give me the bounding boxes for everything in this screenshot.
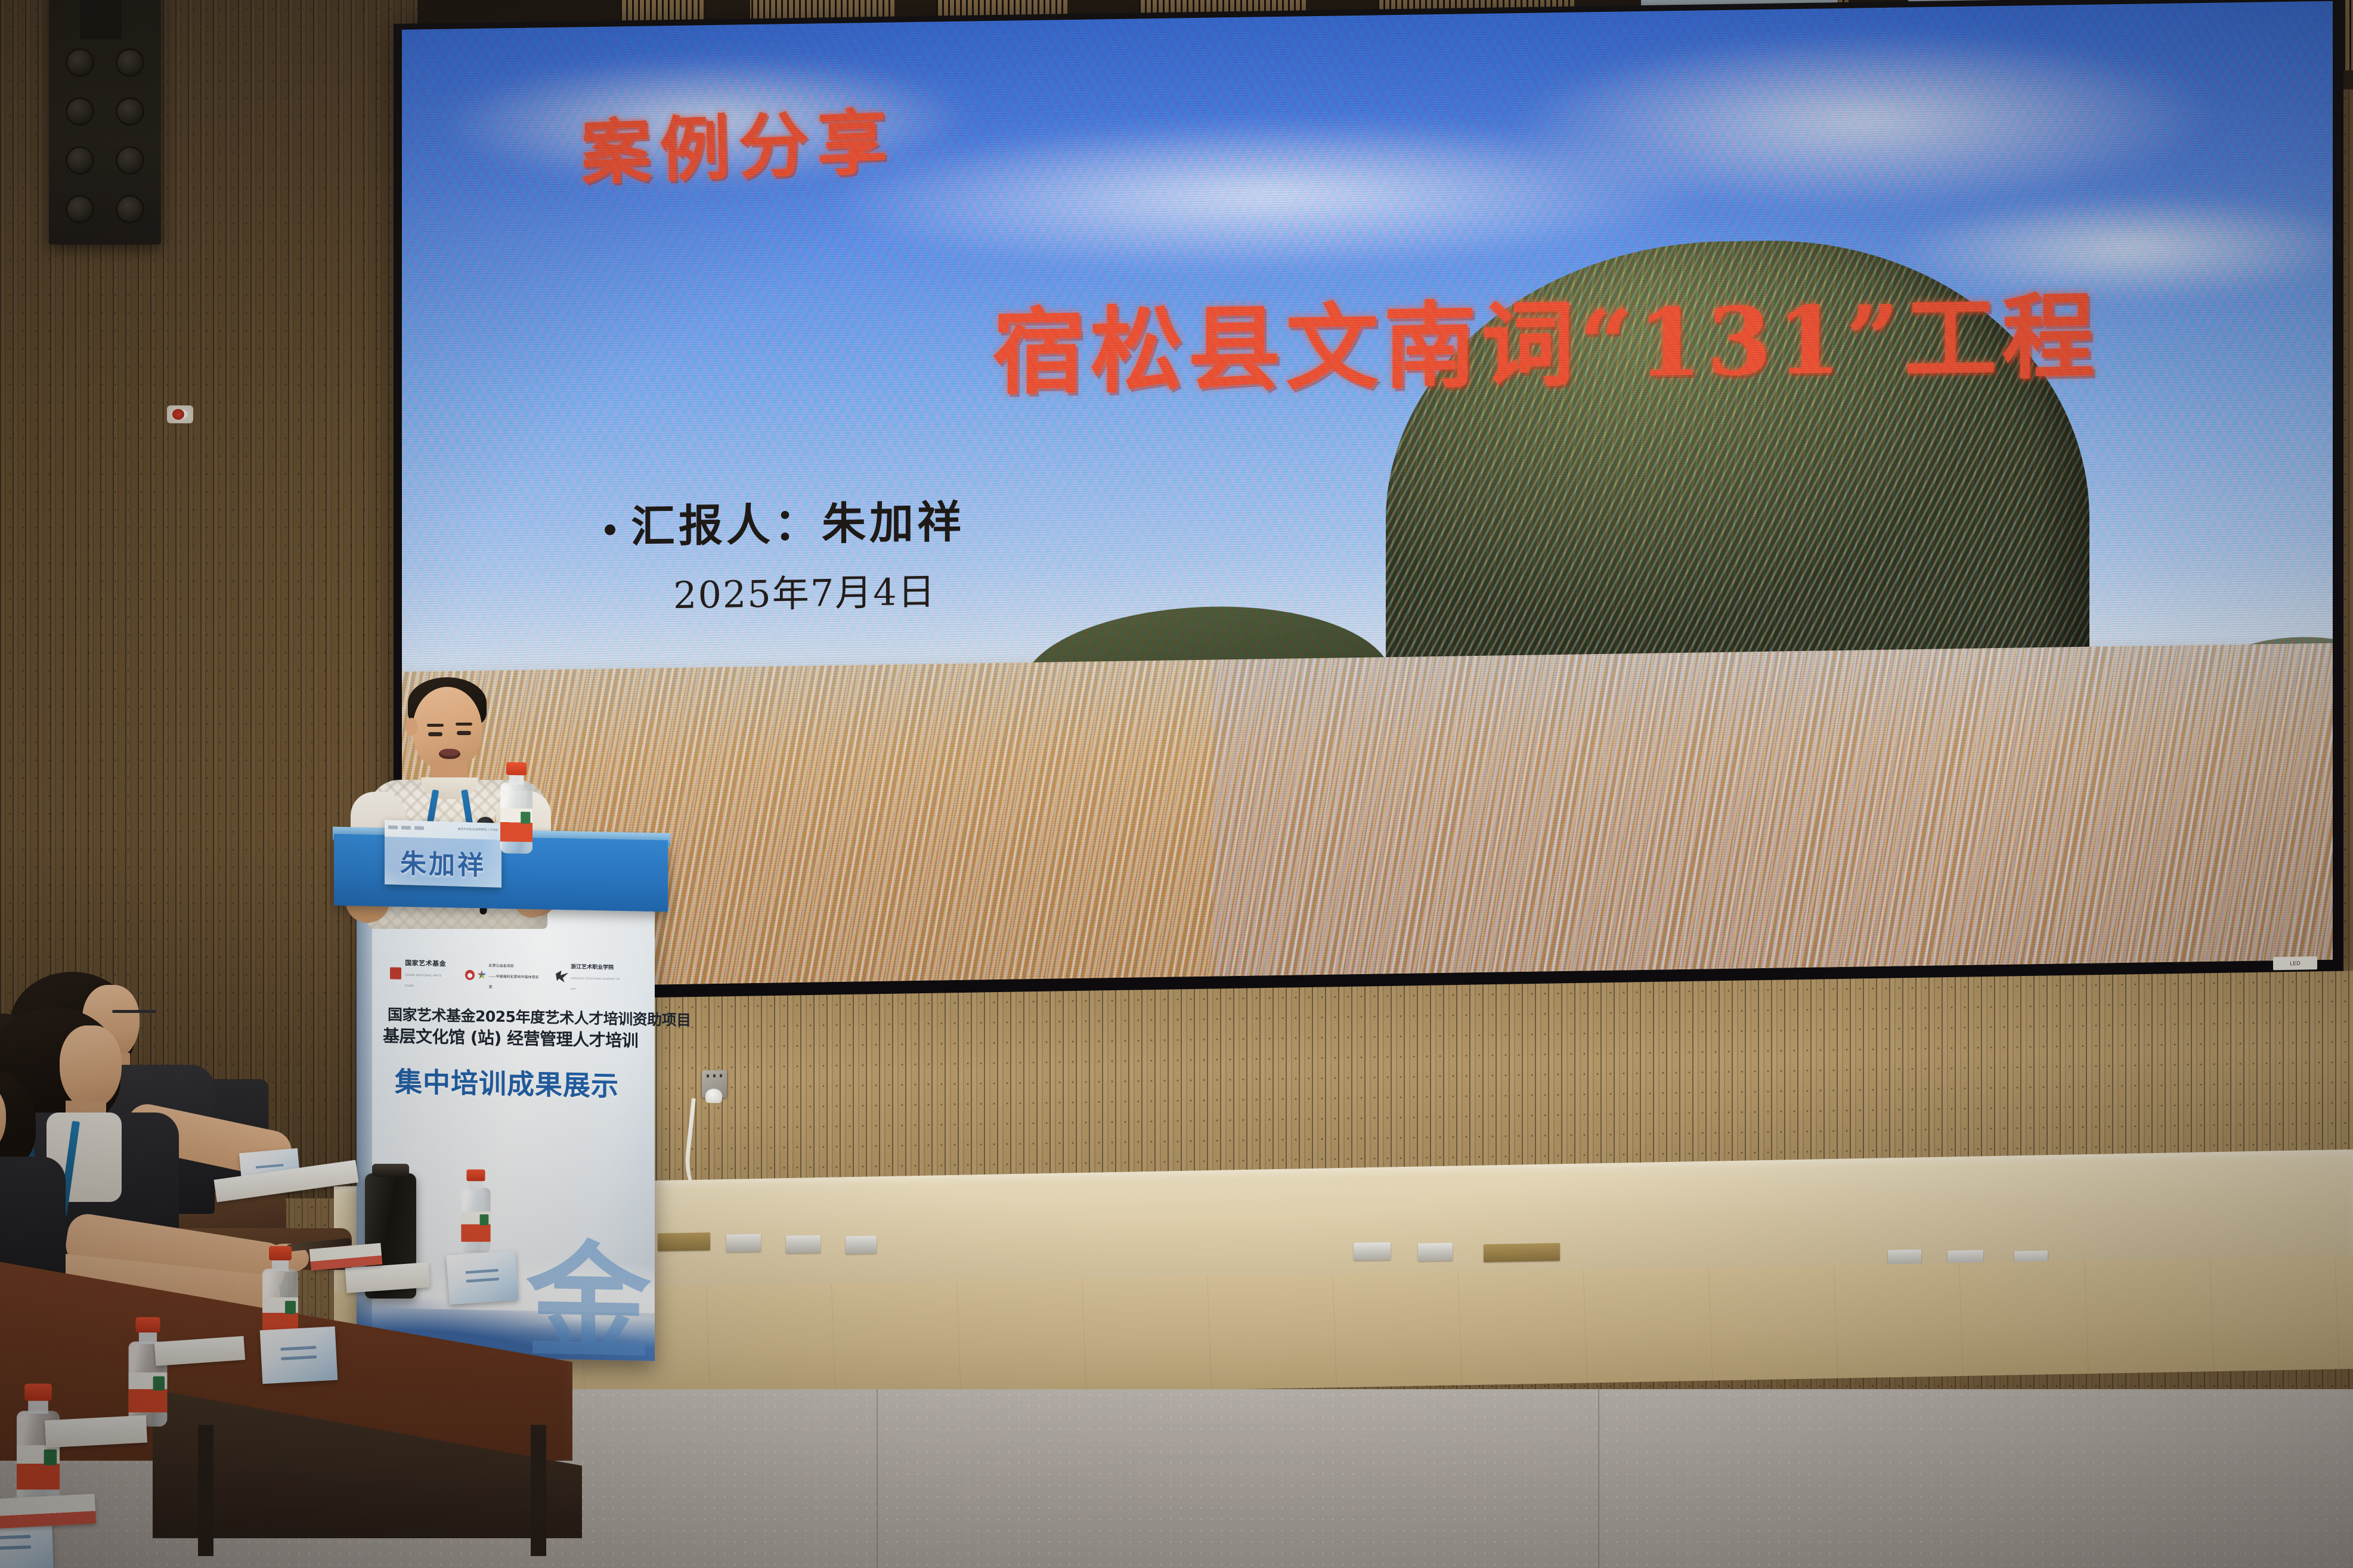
stage-floor-box xyxy=(846,1236,877,1254)
stage-floor-box xyxy=(786,1235,821,1253)
floor-seam xyxy=(1598,1389,1599,1568)
stage-floor-box xyxy=(1354,1242,1391,1260)
presenter-text: 汇报人：朱加祥 xyxy=(631,497,965,553)
slide-presenter-line: 汇报人：朱加祥 xyxy=(605,486,965,556)
stage-floor-box xyxy=(726,1234,761,1252)
nameplate-header: 基层文化馆(站)经营管理 人才培训 xyxy=(388,823,498,834)
slide-date-text: 2025年7月4日 xyxy=(673,562,936,619)
nameplate-header-note: 基层文化馆(站)经营管理 人才培训 xyxy=(458,828,498,832)
floor-seam xyxy=(877,1389,878,1568)
water-bottle[interactable] xyxy=(129,1318,168,1426)
logo-sublabel: ——中国福利彩票和中国体育彩票 xyxy=(489,975,539,989)
table-paper-red xyxy=(0,1493,96,1529)
bird-icon xyxy=(556,971,568,983)
led-screen-display[interactable]: 案例分享 宿松县文南词“131”工程 汇报人：朱加祥 2025年7月4日 xyxy=(402,1,2333,988)
water-bottle[interactable] xyxy=(461,1170,490,1253)
audience-table-group xyxy=(0,1091,596,1568)
logo-label: 浙江艺术职业学院 xyxy=(571,963,614,970)
star-icon xyxy=(477,970,486,980)
speaker-mount xyxy=(80,0,122,39)
nameplate-logos xyxy=(388,825,424,830)
stage-floor-box xyxy=(1484,1243,1560,1262)
audience-face xyxy=(60,1025,122,1109)
table-leg xyxy=(531,1425,546,1556)
table-paper xyxy=(45,1415,147,1448)
audience-glasses xyxy=(112,1010,156,1013)
presenter-eye xyxy=(457,731,471,735)
presenter-ear xyxy=(405,718,417,736)
slide-kicker-text: 案例分享 xyxy=(580,85,897,199)
lectern-logo-row: 国家艺术基金 CHINA NATIONAL ARTS FUND 彩票公益金资助 … xyxy=(390,960,624,991)
bullet-icon xyxy=(605,525,615,535)
presenter-mouth xyxy=(439,749,460,759)
lectern-program-line: 基层文化馆 (站) 经营管理人才培训 xyxy=(383,1023,632,1052)
emergency-indicator-light xyxy=(167,405,193,423)
logo-sublabel: ZHEJIANG VOCATIONAL ACADEMY OF ART xyxy=(571,977,620,990)
logo-sublabel: CHINA NATIONAL ARTS FUND xyxy=(405,974,441,988)
water-glitter xyxy=(402,643,2333,988)
presenter-eyebrow xyxy=(427,724,444,727)
nameplate-name-text: 朱加祥 xyxy=(385,841,501,882)
lectern-water-bottle[interactable] xyxy=(500,763,532,854)
speaker-cone-grid xyxy=(49,35,161,237)
lottery-fund-logo: 彩票公益金资助 ——中国福利彩票和中国体育彩票 xyxy=(465,959,540,992)
stage-floor-box xyxy=(1418,1242,1453,1261)
presenter-eye xyxy=(428,732,442,736)
seal-icon xyxy=(390,967,401,979)
table-leg xyxy=(198,1425,213,1556)
lectern-nameplate: 基层文化馆(站)经营管理 人才培训 朱加祥 xyxy=(385,820,501,887)
logo-label: 彩票公益金资助 xyxy=(489,964,514,968)
table-name-tent xyxy=(446,1251,518,1305)
ceiling-speaker-array xyxy=(49,0,161,244)
slide-title-text: 宿松县文南词“131”工程 xyxy=(992,261,2100,413)
heart-icon xyxy=(465,969,475,980)
table-name-tent xyxy=(260,1327,338,1384)
conference-hall-scene: 案例分享 宿松县文南词“131”工程 汇报人：朱加祥 2025年7月4日 LED xyxy=(0,0,2353,1568)
cloud xyxy=(1505,27,2221,216)
screen-corner-label: LED xyxy=(2273,956,2317,970)
led-screen-frame: 案例分享 宿松县文南词“131”工程 汇报人：朱加祥 2025年7月4日 LED xyxy=(394,0,2343,1002)
zhejiang-academy-logo: 浙江艺术职业学院 ZHEJIANG VOCATIONAL ACADEMY OF … xyxy=(556,960,624,994)
national-arts-fund-logo: 国家艺术基金 CHINA NATIONAL ARTS FUND xyxy=(390,957,450,990)
stage-floor-box xyxy=(658,1232,710,1251)
presenter-eyebrow xyxy=(456,723,472,726)
table-paper xyxy=(345,1262,431,1293)
logo-label: 国家艺术基金 xyxy=(405,960,446,968)
